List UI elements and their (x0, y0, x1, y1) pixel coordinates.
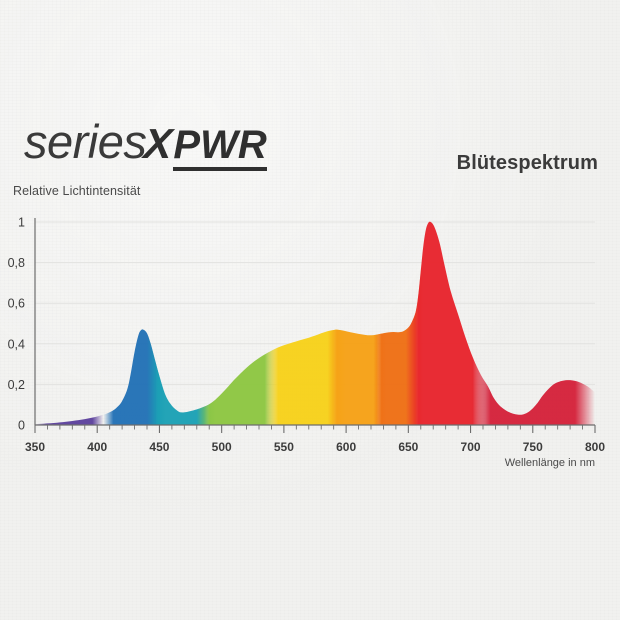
spectrum-fill-bands (35, 182, 595, 445)
spectral-band-crimson (471, 182, 595, 445)
page-root: seriesXPWR Blütespektrum Relative Lichti… (0, 0, 620, 620)
y-tick-label: 0,4 (8, 337, 25, 351)
x-tick-label: 600 (336, 440, 356, 454)
y-tick-label: 0,2 (8, 378, 25, 392)
spectrum-chart: 00,20,40,60,81 3504004505005506006507007… (0, 0, 620, 620)
x-tick-label: 550 (274, 440, 294, 454)
x-tick-label: 450 (149, 440, 169, 454)
y-tick-label: 1 (18, 216, 25, 230)
y-tick-label: 0,6 (8, 297, 25, 311)
spectral-band-cyan (147, 182, 215, 445)
x-axis-caption: Wellenlänge in nm (505, 457, 595, 469)
spectral-band-violet (35, 182, 103, 445)
x-tick-label: 350 (25, 440, 45, 454)
x-tick-label: 650 (398, 440, 418, 454)
y-tick-label: 0 (18, 419, 25, 433)
x-axis-tick-labels: 350400450500550600650700750800 (25, 440, 605, 454)
x-tick-label: 800 (585, 440, 605, 454)
y-tick-label: 0,8 (8, 256, 25, 270)
x-tick-label: 700 (461, 440, 481, 454)
x-tick-label: 750 (523, 440, 543, 454)
x-tick-label: 400 (87, 440, 107, 454)
y-axis-tick-labels: 00,20,40,60,81 (8, 216, 25, 433)
x-tick-label: 500 (212, 440, 232, 454)
